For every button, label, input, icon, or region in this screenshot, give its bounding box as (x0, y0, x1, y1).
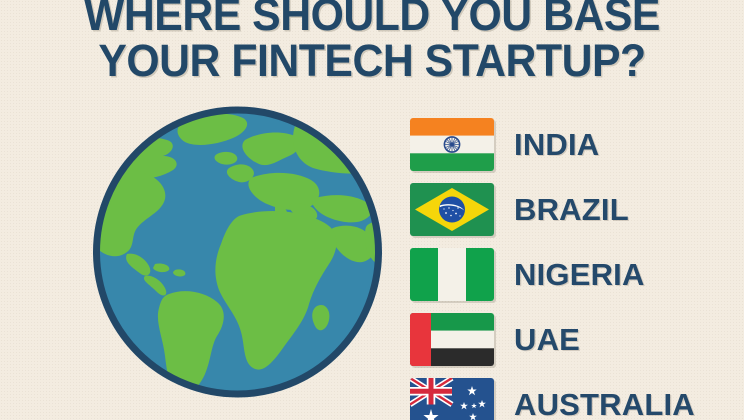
country-label-brazil: BRAZIL (514, 194, 629, 225)
country-row-india[interactable]: INDIA (410, 112, 744, 177)
globe-illustration (93, 106, 382, 398)
flag-uae-icon (410, 313, 494, 366)
country-label-uae: UAE (514, 324, 580, 355)
globe-svg (93, 106, 382, 398)
flag-brazil-icon (410, 183, 494, 236)
flag-australia-icon (410, 378, 494, 420)
flag-india-icon (410, 118, 494, 171)
infographic-poster: WHERE SHOULD YOU BASE YOUR FINTECH START… (0, 0, 744, 420)
country-row-nigeria[interactable]: NIGERIA (410, 242, 744, 307)
country-row-uae[interactable]: UAE (410, 307, 744, 372)
country-label-india: INDIA (514, 129, 599, 160)
page-title: WHERE SHOULD YOU BASE YOUR FINTECH START… (0, 0, 744, 84)
country-row-brazil[interactable]: BRAZIL (410, 177, 744, 242)
title-line-2: YOUR FINTECH STARTUP? (19, 38, 726, 84)
title-line-1: WHERE SHOULD YOU BASE (19, 0, 726, 38)
flag-nigeria-icon (410, 248, 494, 301)
country-label-nigeria: NIGERIA (514, 259, 645, 290)
country-list: INDIA BRAZIL (410, 112, 744, 420)
country-label-australia: AUSTRALIA (514, 389, 695, 420)
country-row-australia[interactable]: AUSTRALIA (410, 372, 744, 420)
